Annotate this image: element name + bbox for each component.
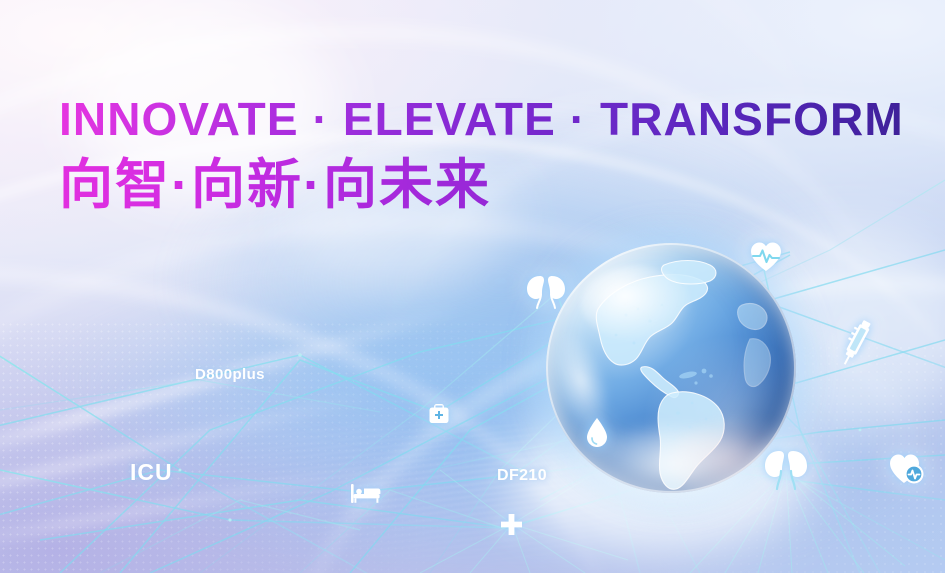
- earth-globe: [546, 243, 796, 493]
- medical-bag-icon: [428, 403, 450, 424]
- water-drop-icon: [585, 417, 609, 448]
- kidneys-icon: [524, 272, 568, 312]
- hospital-bed-icon: [350, 482, 382, 504]
- label-df210: DF210: [497, 467, 547, 485]
- hero-banner: D800plus ICU DF210 INNOVATE · ELEVATE · …: [0, 0, 945, 573]
- label-d800plus: D800plus: [195, 366, 265, 383]
- label-icu: ICU: [130, 459, 173, 486]
- headline-block: INNOVATE · ELEVATE · TRANSFORM 向智·向新·向未来: [59, 96, 904, 214]
- heart-pulse-icon: [749, 241, 783, 272]
- heart-monitor-icon: [889, 453, 925, 485]
- medical-cross-icon: [500, 513, 523, 536]
- kidneys-icon: [762, 448, 810, 492]
- headline-chinese: 向智·向新·向未来: [59, 156, 904, 214]
- headline-english: INNOVATE · ELEVATE · TRANSFORM: [59, 96, 904, 142]
